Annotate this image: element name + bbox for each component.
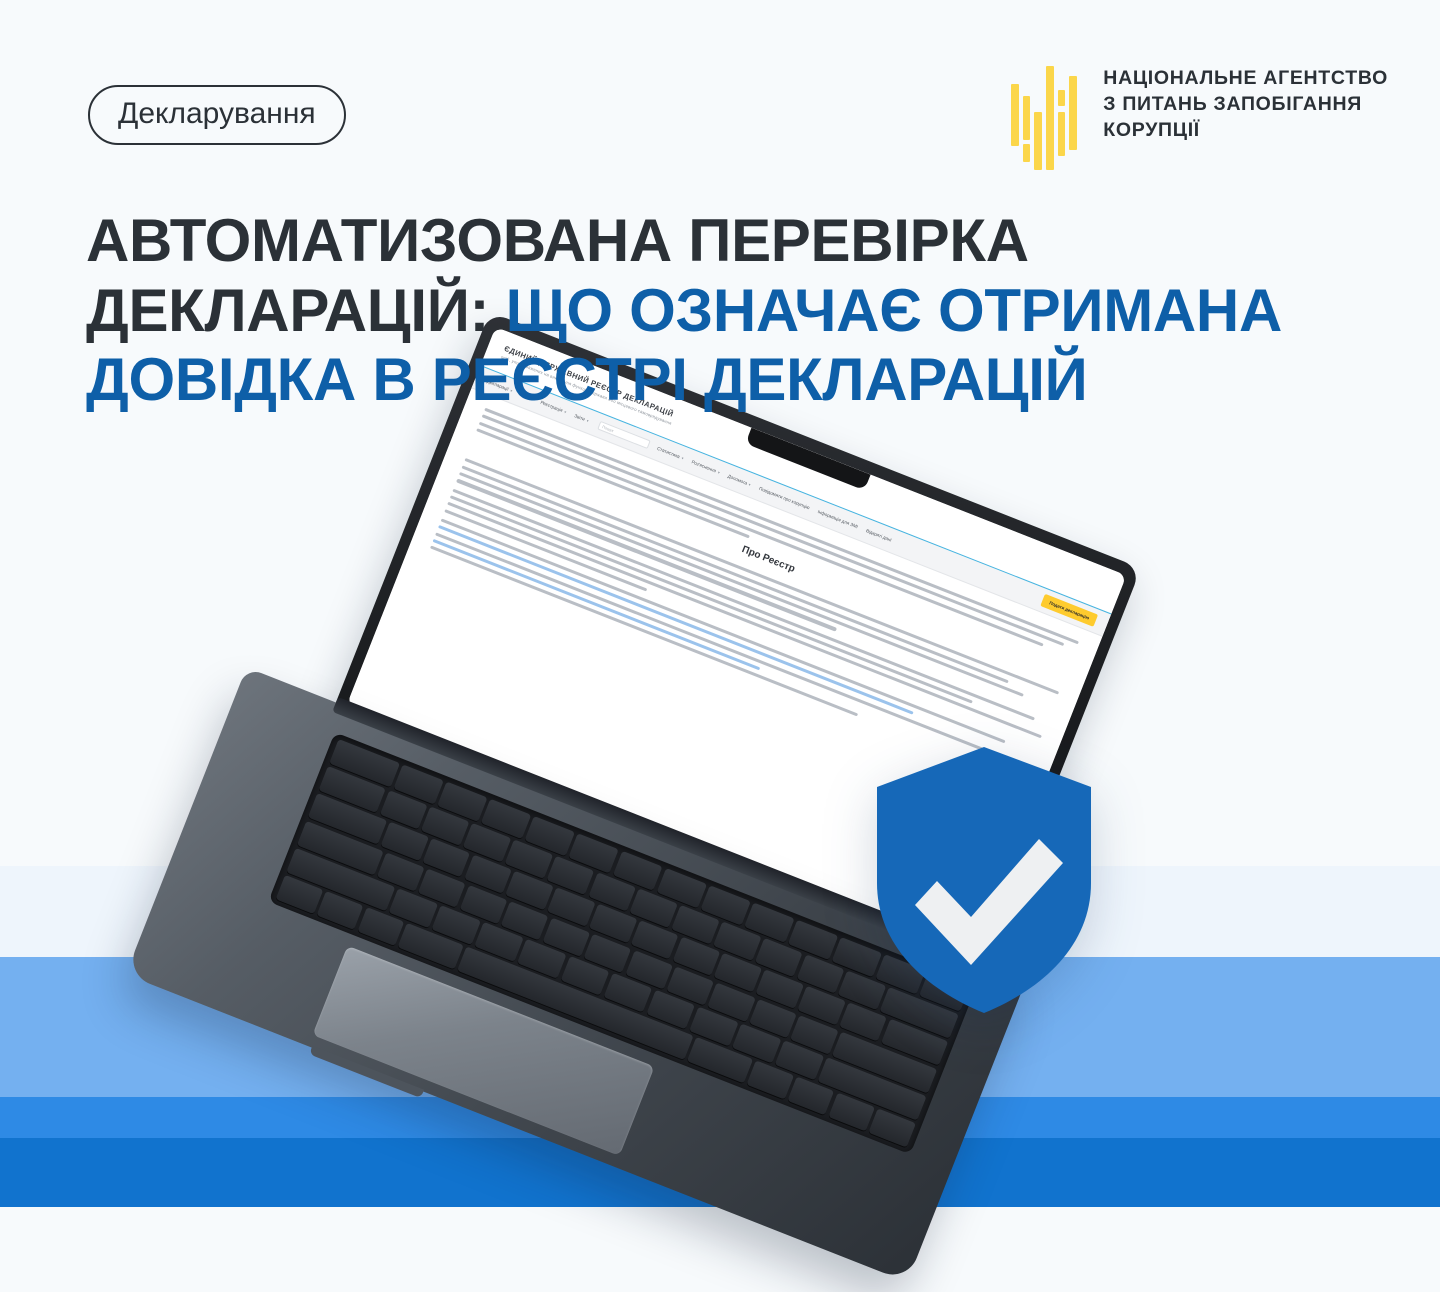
category-tag-badge: Декларування xyxy=(88,85,346,145)
nazk-logo-text: НАЦІОНАЛЬНЕ АГЕНТСТВО З ПИТАНЬ ЗАПОБІГАН… xyxy=(1103,60,1388,144)
page-title: АВТОМАТИЗОВАНА ПЕРЕВІРКА ДЕКЛАРАЦІЙ: ЩО … xyxy=(86,206,1376,415)
logo-line-2: З ПИТАНЬ ЗАПОБІГАННЯ xyxy=(1103,92,1388,118)
nav-item-open-data[interactable]: Відкриті дані xyxy=(865,528,892,543)
nav-item-help[interactable]: Допомога xyxy=(727,474,752,488)
logo-line-3: КОРУПЦІЇ xyxy=(1103,118,1388,144)
headline-line-3-blue: ДОВІДКА В РЕЄСТРІ ДЕКЛАРАЦІЙ xyxy=(86,346,1087,413)
nav-item-statistics[interactable]: Статистика xyxy=(656,446,684,461)
nazk-bars-logo-icon xyxy=(1009,60,1081,170)
nazk-logo: НАЦІОНАЛЬНЕ АГЕНТСТВО З ПИТАНЬ ЗАПОБІГАН… xyxy=(1009,60,1388,170)
headline-line-1: АВТОМАТИЗОВАНА ПЕРЕВІРКА xyxy=(86,207,1029,274)
nav-item-clarifications[interactable]: Роз'яснення xyxy=(691,459,721,475)
logo-line-1: НАЦІОНАЛЬНЕ АГЕНТСТВО xyxy=(1103,66,1388,92)
headline-line-2-dark: ДЕКЛАРАЦІЙ: xyxy=(86,277,489,344)
shield-check-icon xyxy=(875,745,1093,1015)
artwork-stage: ЄДИНИЙ ДЕРЖАВНИЙ РЕЄСТР ДЕКЛАРАЦІЙ осіб,… xyxy=(0,0,1440,1207)
headline-line-2-blue: ЩО ОЗНАЧАЄ ОТРИМАНА xyxy=(506,277,1282,344)
